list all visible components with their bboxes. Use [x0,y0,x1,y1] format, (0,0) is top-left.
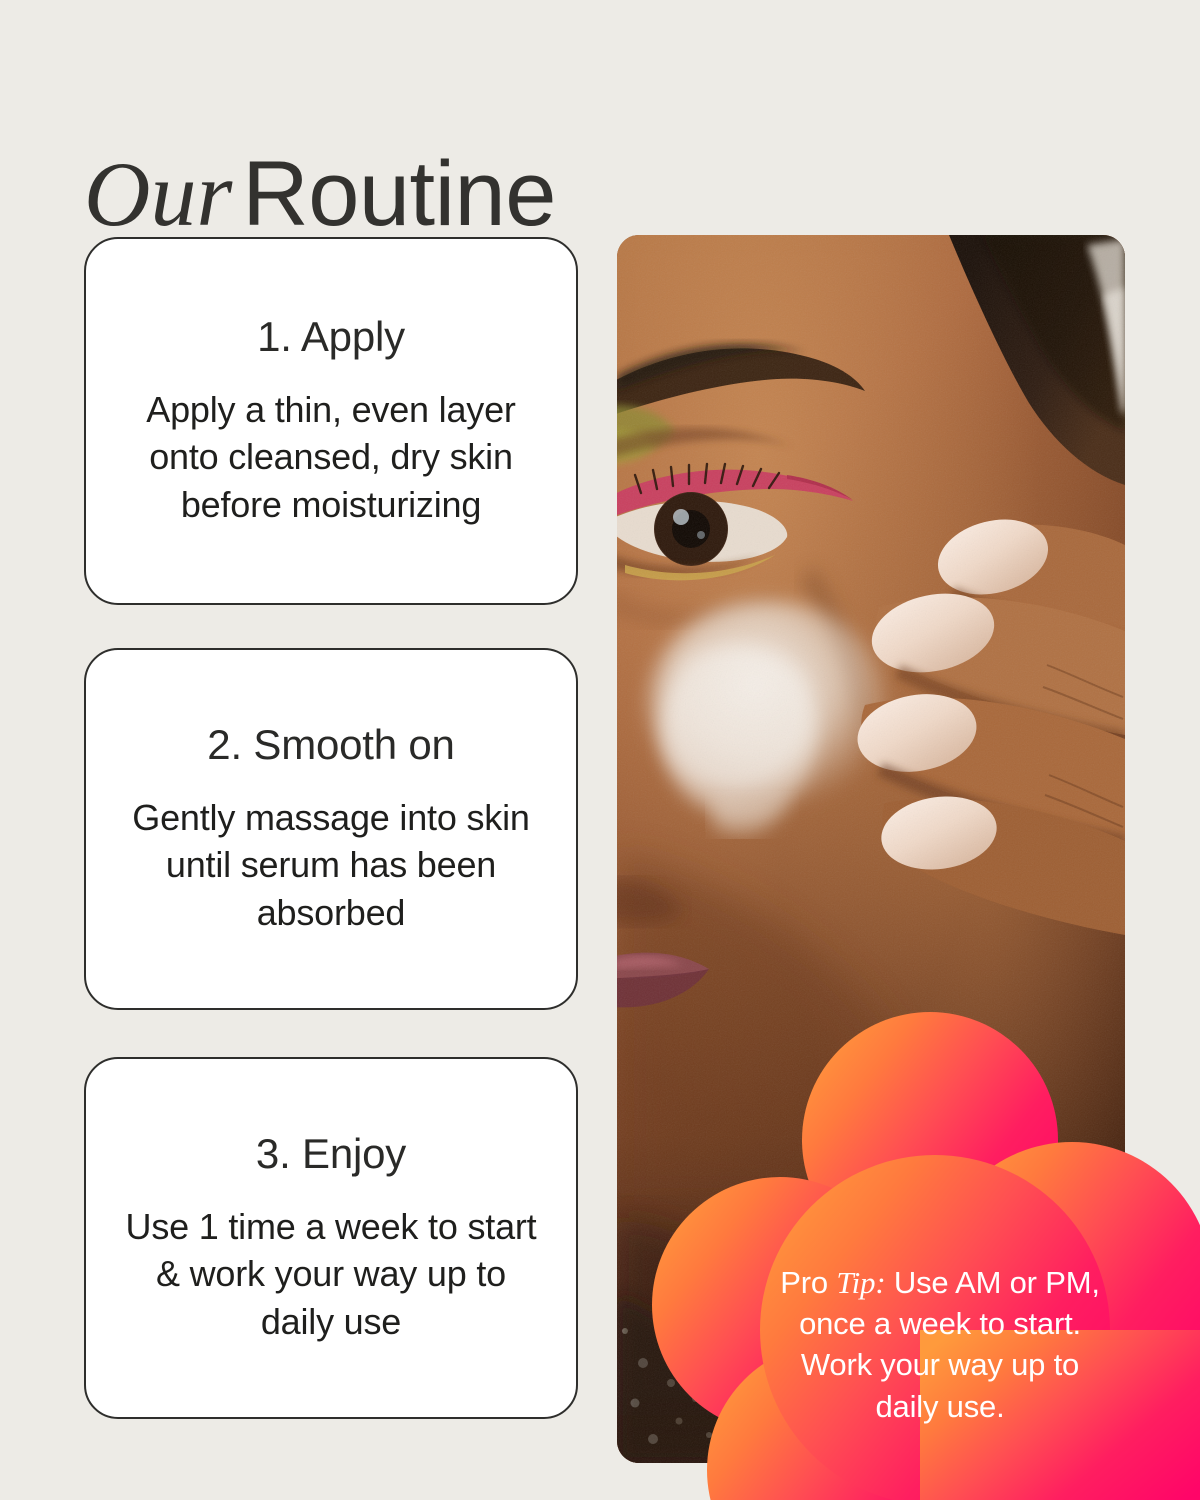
protip-label-italic: Tip: [836,1265,885,1300]
protip-label-prefix: Pro [780,1265,836,1300]
step-heading: 1. Apply [257,314,405,360]
protip-line-2: once a week to start. [799,1306,1081,1341]
step-card-enjoy: 3. Enjoy Use 1 time a week to start & wo… [84,1057,578,1419]
protip-line-3: Work your way up to [801,1347,1079,1382]
page-title-main: Routine [242,143,556,245]
step-heading: 3. Enjoy [256,1131,406,1177]
step-card-smooth-on: 2. Smooth on Gently massage into skin un… [84,648,578,1010]
page-title: OurRoutine [84,148,556,240]
step-body: Gently massage into skin until serum has… [121,794,541,937]
infographic-canvas: OurRoutine 1. Apply Apply a thin, even l… [0,0,1200,1500]
step-card-apply: 1. Apply Apply a thin, even layer onto c… [84,237,578,605]
protip-text: Pro Tip: Use AM or PM, once a week to st… [760,1262,1120,1427]
page-title-prefix: Our [84,143,242,245]
protip-line-4: daily use. [876,1389,1005,1424]
step-body: Apply a thin, even layer onto cleansed, … [121,386,541,529]
protip-line-1-rest: Use AM or PM, [885,1265,1099,1300]
step-body: Use 1 time a week to start & work your w… [121,1203,541,1346]
protip-line-1: Pro Tip: Use AM or PM, [780,1265,1099,1300]
step-heading: 2. Smooth on [207,722,454,768]
